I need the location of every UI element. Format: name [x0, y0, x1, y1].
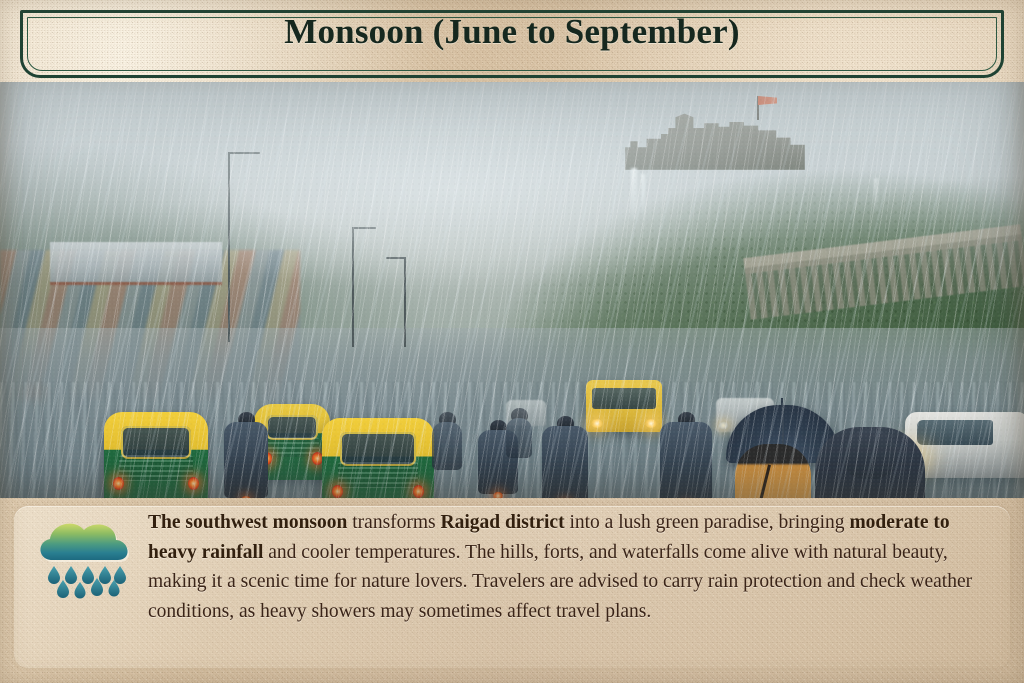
rain-cloud-icon [30, 512, 142, 602]
page-title: Monsoon (June to September) [0, 12, 1024, 52]
caption-emphasis: Raigad district [441, 512, 565, 533]
caption-run: into a lush green paradise, bringing [565, 512, 850, 533]
caption-emphasis: The southwest monsoon [148, 512, 347, 533]
caption-text: The southwest monsoon transforms Raigad … [148, 508, 988, 626]
caption-run: and cooler temperatures. The hills, fort… [148, 542, 972, 622]
card-header: Monsoon (June to September) [0, 0, 1024, 82]
monsoon-info-card: Monsoon (June to September) [0, 0, 1024, 683]
photo-vignette [0, 82, 1024, 498]
caption-run: transforms [347, 512, 440, 533]
monsoon-photo [0, 82, 1024, 498]
